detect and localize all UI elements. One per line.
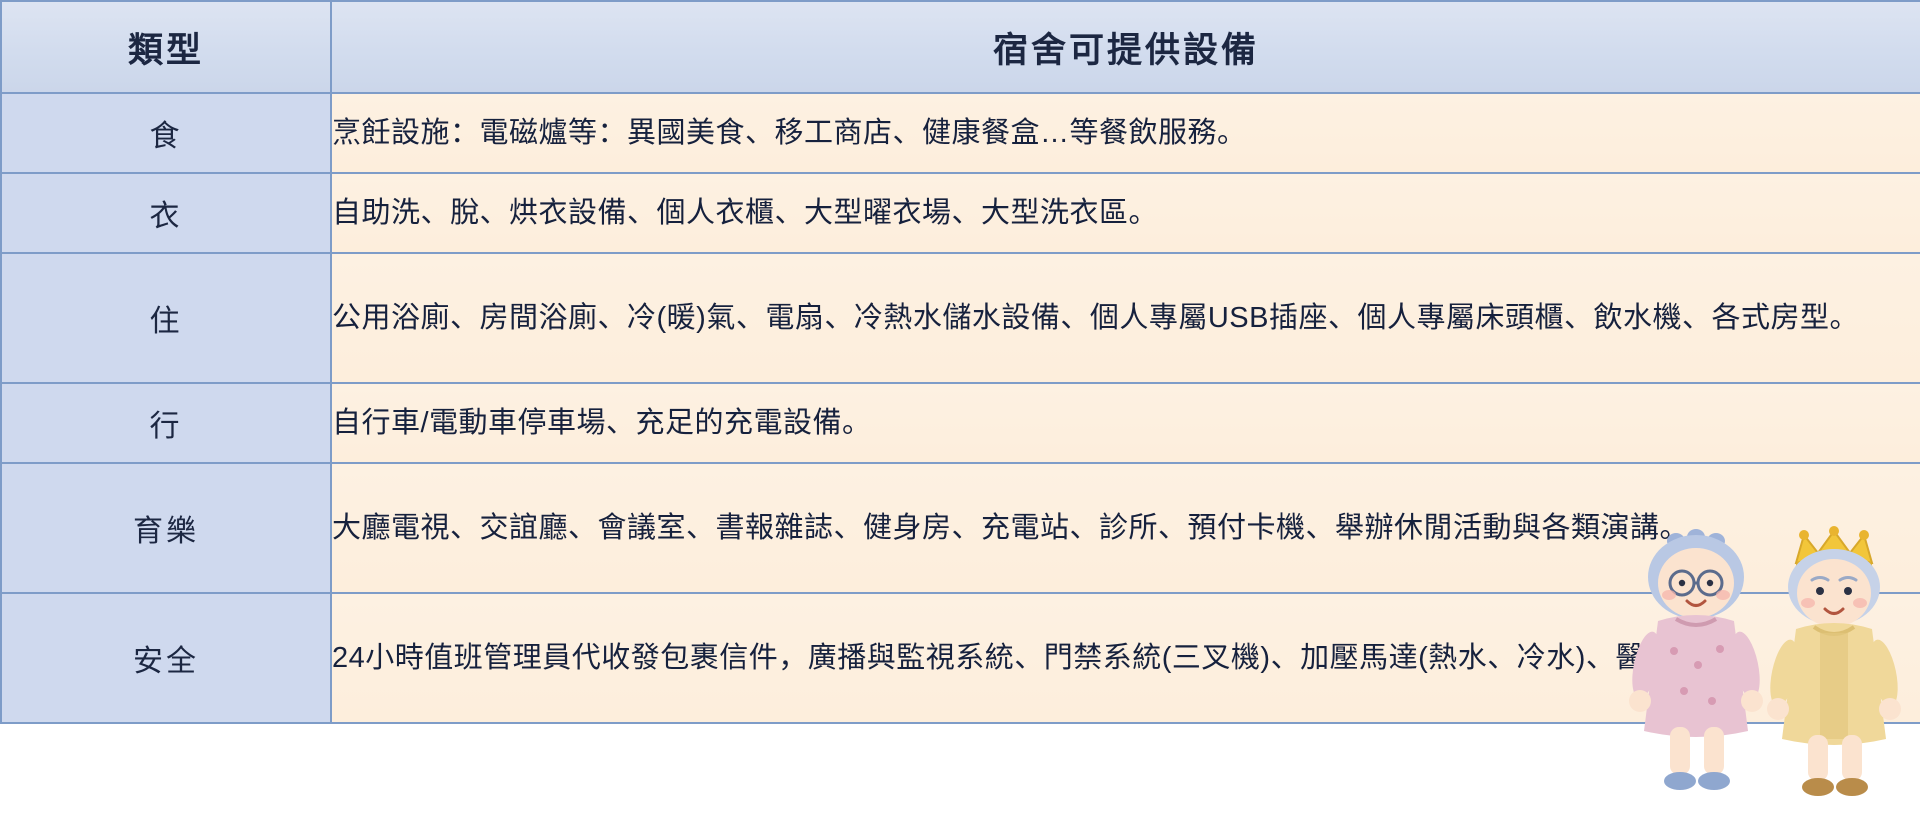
table-header-row: 類型 宿舍可提供設備 <box>1 1 1920 93</box>
row-description: 公用浴廁、房間浴廁、冷(暖)氣、電扇、冷熱水儲水設備、個人專屬USB插座、個人專… <box>331 253 1920 383</box>
row-description: 24小時值班管理員代收發包裹信件，廣播與監視系統、門禁系統(三叉機)、加壓馬達(… <box>331 593 1920 723</box>
row-description-text: 24小時值班管理員代收發包裹信件，廣播與監視系統、門禁系統(三叉機)、加壓馬達(… <box>332 642 1733 674</box>
row-type-label: 住 <box>1 253 331 383</box>
row-type-label: 育樂 <box>1 463 331 593</box>
table-row: 安全 24小時值班管理員代收發包裹信件，廣播與監視系統、門禁系統(三叉機)、加壓… <box>1 593 1920 723</box>
dormitory-facilities-table: 類型 宿舍可提供設備 食 烹飪設施：電磁爐等：異國美食、移工商店、健康餐盒…等餐… <box>0 0 1920 724</box>
row-description: 自助洗、脫、烘衣設備、個人衣櫃、大型曜衣場、大型洗衣區。 <box>331 173 1920 253</box>
row-type-label: 衣 <box>1 173 331 253</box>
row-description-text: 自助洗、脫、烘衣設備、個人衣櫃、大型曜衣場、大型洗衣區。 <box>332 197 1158 229</box>
row-description: 烹飪設施：電磁爐等：異國美食、移工商店、健康餐盒…等餐飲服務。 <box>331 93 1920 173</box>
table-row: 食 烹飪設施：電磁爐等：異國美食、移工商店、健康餐盒…等餐飲服務。 <box>1 93 1920 173</box>
header-type: 類型 <box>1 1 331 93</box>
row-type-label: 食 <box>1 93 331 173</box>
row-description-text: 烹飪設施：電磁爐等：異國美食、移工商店、健康餐盒…等餐飲服務。 <box>332 117 1247 149</box>
table-row: 育樂 大廳電視、交誼廳、會議室、書報雜誌、健身房、充電站、診所、預付卡機、舉辦休… <box>1 463 1920 593</box>
row-description: 大廳電視、交誼廳、會議室、書報雜誌、健身房、充電站、診所、預付卡機、舉辦休閒活動… <box>331 463 1920 593</box>
header-facilities: 宿舍可提供設備 <box>331 1 1920 93</box>
row-type-label: 行 <box>1 383 331 463</box>
table-stage: 美家人力．樂齡 HUMAN.CARE 類型 宿舍可提供設備 食 烹飪設施：電磁爐… <box>0 0 1920 815</box>
table-row: 衣 自助洗、脫、烘衣設備、個人衣櫃、大型曜衣場、大型洗衣區。 <box>1 173 1920 253</box>
row-description-text: 公用浴廁、房間浴廁、冷(暖)氣、電扇、冷熱水儲水設備、個人專屬USB插座、個人專… <box>332 302 1859 334</box>
table-row: 住 公用浴廁、房間浴廁、冷(暖)氣、電扇、冷熱水儲水設備、個人專屬USB插座、個… <box>1 253 1920 383</box>
row-description-text: 自行車/電動車停車場、充足的充電設備。 <box>332 407 872 439</box>
table-row: 行 自行車/電動車停車場、充足的充電設備。 <box>1 383 1920 463</box>
row-description-text: 大廳電視、交誼廳、會議室、書報雜誌、健身房、充電站、診所、預付卡機、舉辦休閒活動… <box>332 512 1689 544</box>
row-type-label: 安全 <box>1 593 331 723</box>
row-description: 自行車/電動車停車場、充足的充電設備。 <box>331 383 1920 463</box>
